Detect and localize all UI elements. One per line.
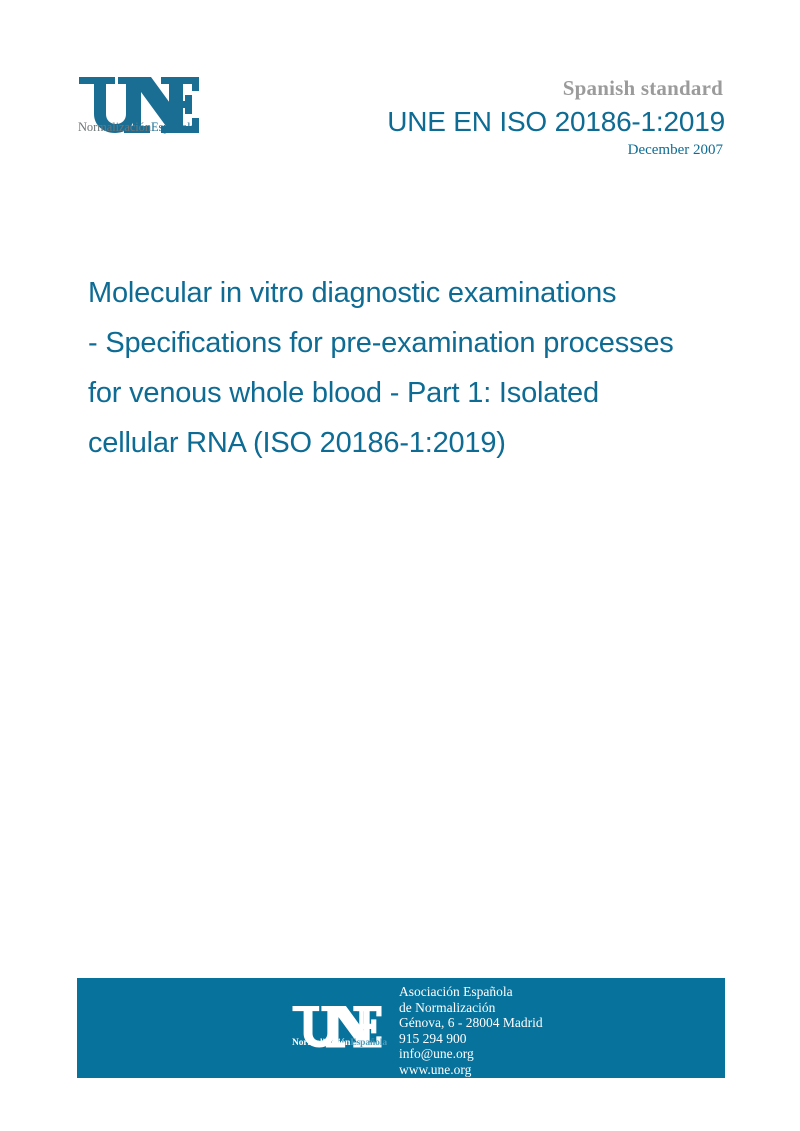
tagline-espanola: Española [350,1038,387,1048]
standard-kind-label: Spanish standard [563,76,723,101]
contact-line-email: info@une.org [399,1046,543,1062]
document-title: Molecular in vitro diagnostic examinatio… [88,268,788,468]
contact-line-organization-cont: de Normalización [399,1000,543,1016]
standard-date: December 2007 [628,142,723,159]
title-line: for venous whole blood - Part 1: Isolate… [88,368,788,418]
document-header: NormalizaciónEspañola Spanish standard U… [0,0,800,190]
title-line: Molecular in vitro diagnostic examinatio… [88,268,788,318]
tagline-espanola: Española [151,120,196,134]
contact-line-organization: Asociación Española [399,984,543,1000]
une-logo-tagline-header: NormalizaciónEspañola [78,120,196,135]
contact-line-phone: 915 294 900 [399,1031,543,1047]
une-logo-tagline-footer: NormalizaciónEspañola [292,1038,387,1048]
tagline-normalizacion: Normalización [292,1038,350,1048]
tagline-normalizacion: Normalización [78,120,151,134]
title-line: - Specifications for pre-examination pro… [88,318,788,368]
standard-number: UNE EN ISO 20186-1:2019 [387,106,725,138]
contact-line-website: www.une.org [399,1062,543,1078]
title-line: cellular RNA (ISO 20186-1:2019) [88,418,788,468]
footer-contact-block: Asociación Española de Normalización Gén… [399,984,543,1078]
contact-line-address: Génova, 6 - 28004 Madrid [399,1015,543,1031]
